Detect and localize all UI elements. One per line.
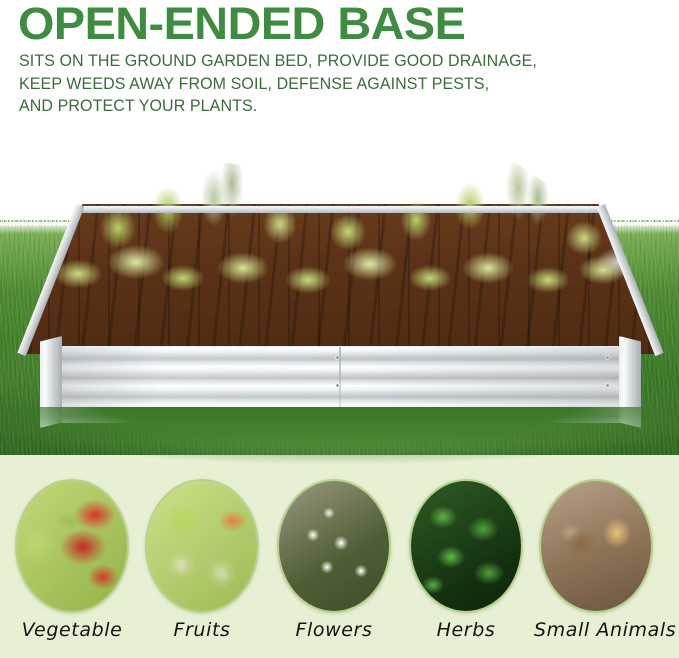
use-badge-label: Vegetable bbox=[10, 619, 134, 641]
raised-garden-bed bbox=[18, 204, 663, 434]
fruits-photo bbox=[147, 481, 257, 611]
subtitle-line-1: SITS ON THE GROUND GARDEN BED, PROVIDE G… bbox=[19, 50, 640, 73]
small-animals-photo bbox=[541, 481, 651, 611]
vegetable-photo bbox=[17, 481, 127, 611]
uses-badge-row: Vegetable Fruits Flowers Herbs bbox=[0, 479, 679, 654]
use-badge-label: Herbs bbox=[404, 619, 528, 641]
page-title: OPEN-ENDED BASE bbox=[18, 1, 465, 46]
herbs-photo bbox=[411, 481, 521, 611]
subtitle-line-2: KEEP WEEDS AWAY FROM SOIL, DEFENSE AGAIN… bbox=[19, 73, 640, 96]
flowers-photo-frame bbox=[277, 479, 391, 613]
uses-panel: Vegetable Fruits Flowers Herbs bbox=[0, 455, 679, 658]
screw-icon bbox=[606, 384, 609, 387]
use-badge-flowers[interactable]: Flowers bbox=[272, 479, 396, 641]
use-badge-small-animals[interactable]: Small Animals bbox=[534, 479, 658, 641]
use-badge-fruits[interactable]: Fruits bbox=[140, 479, 264, 641]
subtitle-line-3: AND PROTECT YOUR PLANTS. bbox=[19, 95, 640, 118]
headline-block: OPEN-ENDED BASE SITS ON THE GROUND GARDE… bbox=[0, 0, 679, 130]
use-badge-vegetable[interactable]: Vegetable bbox=[10, 479, 134, 641]
bed-top-rail bbox=[82, 206, 602, 213]
screw-icon bbox=[336, 384, 339, 387]
use-badge-label: Fruits bbox=[140, 619, 264, 641]
use-badge-label: Flowers bbox=[272, 619, 396, 641]
flowers-photo bbox=[279, 481, 389, 611]
use-badge-label: Small Animals bbox=[534, 619, 658, 641]
product-feature-image: OPEN-ENDED BASE SITS ON THE GROUND GARDE… bbox=[0, 0, 679, 658]
herbs-photo-frame bbox=[409, 479, 523, 613]
fruits-photo-frame bbox=[145, 479, 259, 613]
small-animals-photo-frame bbox=[539, 479, 653, 613]
use-badge-herbs[interactable]: Herbs bbox=[404, 479, 528, 641]
subtitle: SITS ON THE GROUND GARDEN BED, PROVIDE G… bbox=[19, 50, 640, 118]
vegetable-photo-frame bbox=[15, 479, 129, 613]
screw-icon bbox=[336, 356, 339, 359]
screw-icon bbox=[606, 356, 609, 359]
